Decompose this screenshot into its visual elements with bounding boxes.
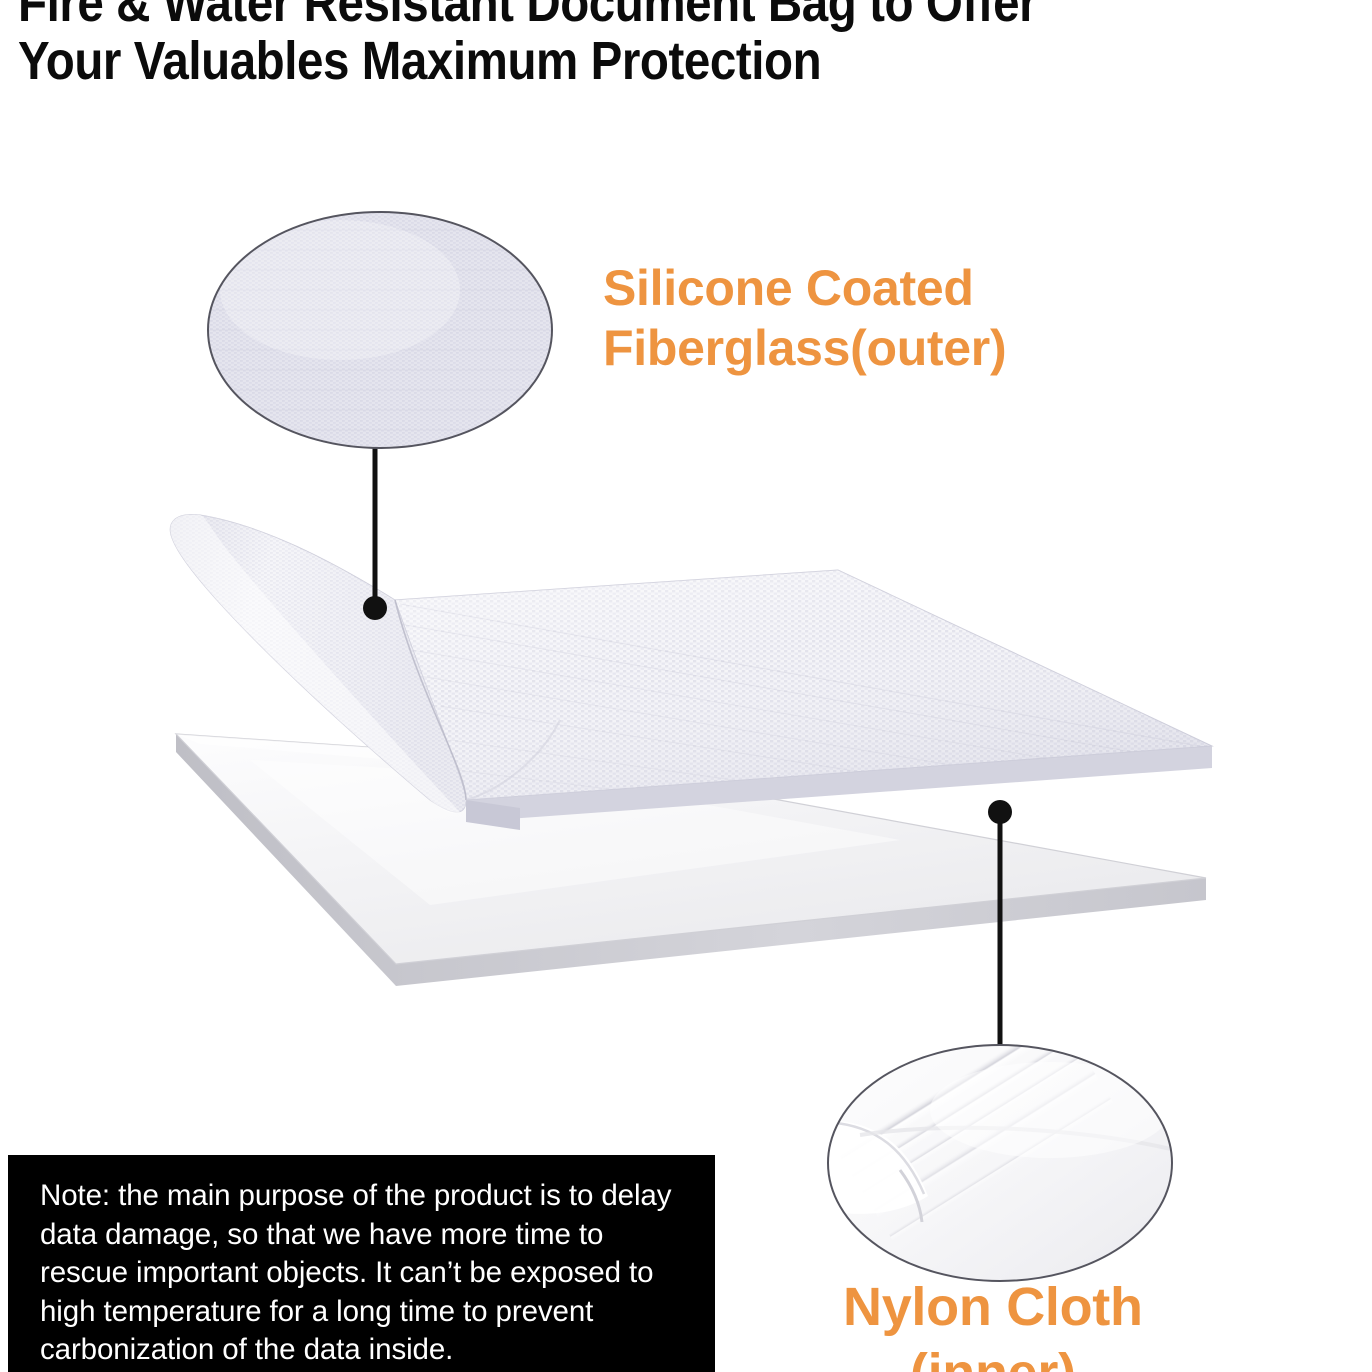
nylon-fabric-closeup <box>824 1015 1180 1290</box>
product-infographic: Fire & Water Resistant Document Bag to O… <box>0 0 1372 1372</box>
leader-line-nylon <box>988 800 1012 1048</box>
title-line-2: Your Valuables Maximum Protection <box>18 32 1250 90</box>
label-inner-line-2: (inner) <box>843 1340 1143 1372</box>
label-inner-line-1: Nylon Cloth <box>843 1274 1143 1340</box>
note-text: Note: the main purpose of the product is… <box>40 1177 691 1370</box>
page-title: Fire & Water Resistant Document Bag to O… <box>18 0 1250 90</box>
title-line-1: Fire & Water Resistant Document Bag to O… <box>18 0 1250 32</box>
label-outer-line-1: Silicone Coated <box>603 258 1006 318</box>
label-silicone-coated-fiberglass: Silicone Coated Fiberglass(outer) <box>603 258 1006 378</box>
fiberglass-weave-closeup <box>200 205 570 460</box>
note-box: Note: the main purpose of the product is… <box>8 1155 715 1372</box>
label-nylon-cloth: Nylon Cloth (inner) <box>843 1274 1143 1372</box>
label-outer-line-2: Fiberglass(outer) <box>603 318 1006 378</box>
